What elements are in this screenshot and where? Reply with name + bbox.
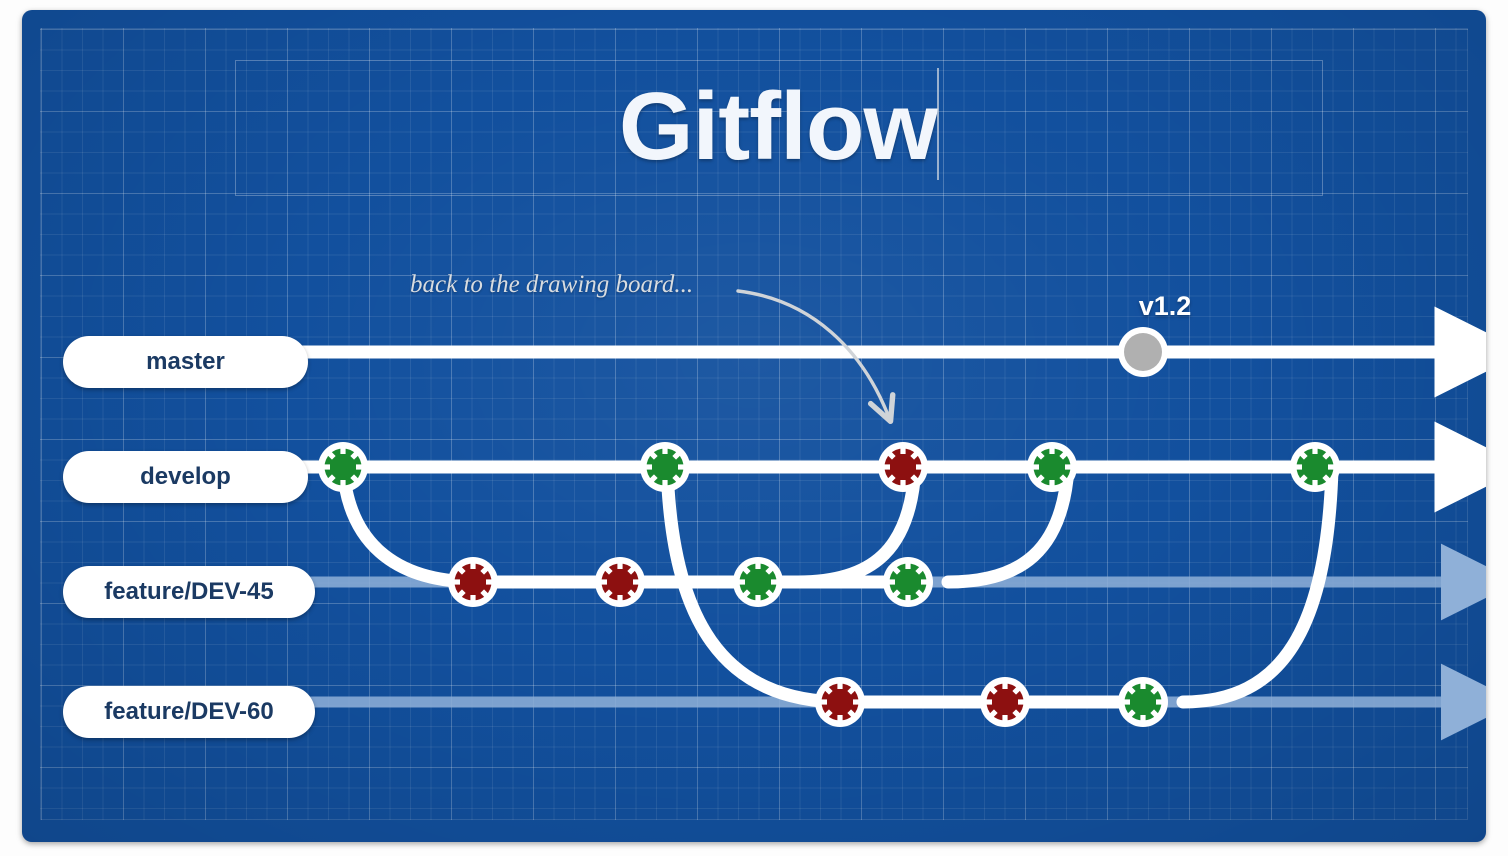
branch-label-feature-dev45[interactable]: feature/DEV-45 [63, 566, 315, 618]
branch-label-develop[interactable]: develop [63, 451, 308, 503]
commit-node[interactable] [595, 557, 645, 607]
commit-node[interactable] [1290, 442, 1340, 492]
branch-lines [286, 352, 1454, 702]
commit-node[interactable] [318, 442, 368, 492]
commit-node[interactable] [733, 557, 783, 607]
branch-label-feature-dev60[interactable]: feature/DEV-60 [63, 686, 315, 738]
commit-node[interactable] [1027, 442, 1077, 492]
page-title[interactable]: Gitflow [235, 62, 1321, 192]
commit-node[interactable] [448, 557, 498, 607]
commit-node[interactable] [640, 442, 690, 492]
active-commit-paths [473, 582, 1143, 702]
blueprint-slide: Gitflow back to the drawing board... mas… [22, 10, 1486, 842]
branch-label-master[interactable]: master [63, 336, 308, 388]
version-tag-label: v1.2 [1120, 291, 1210, 322]
commit-node[interactable] [815, 677, 865, 727]
text-cursor [937, 68, 939, 180]
commit-node[interactable] [1118, 677, 1168, 727]
commit-node[interactable] [980, 677, 1030, 727]
commit-node[interactable] [883, 557, 933, 607]
slide-canvas: Gitflow back to the drawing board... mas… [0, 0, 1508, 856]
tag-node-v1.2[interactable] [1118, 327, 1168, 377]
commit-node[interactable] [878, 442, 928, 492]
annotation-label: back to the drawing board... [410, 271, 693, 299]
